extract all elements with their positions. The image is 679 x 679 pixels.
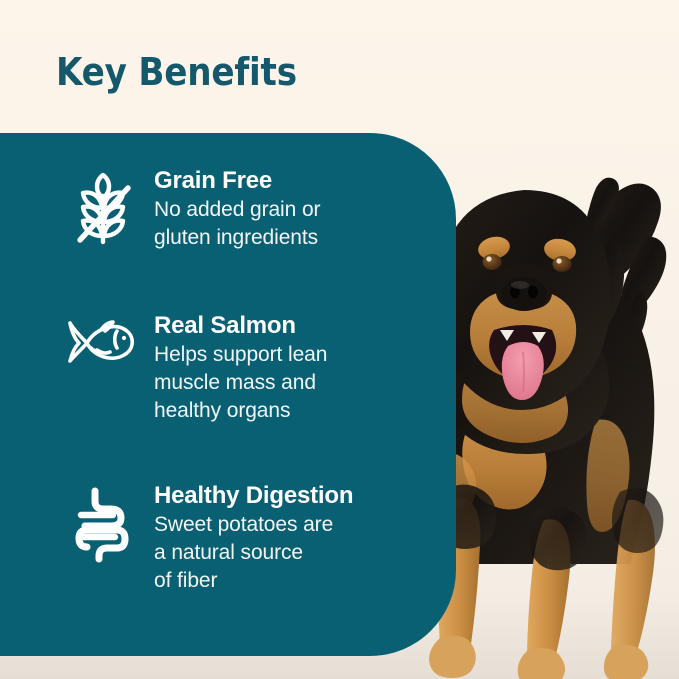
benefit-description-line: muscle mass and: [154, 369, 444, 397]
benefit-description-line: Helps support lean: [154, 341, 444, 369]
benefit-description: Helps support lean muscle mass and healt…: [154, 341, 444, 425]
benefit-description: Sweet potatoes are a natural source of f…: [154, 511, 444, 595]
key-benefits-graphic: Key Benefits Grain Free: [0, 0, 679, 679]
benefit-item-grain-free: Grain Free No added grain or gluten ingr…: [64, 168, 444, 252]
page-title: Key Benefits: [56, 50, 297, 94]
benefit-text: Grain Free No added grain or gluten ingr…: [154, 168, 444, 252]
benefit-description-line: No added grain or: [154, 196, 444, 224]
benefit-description-line: Sweet potatoes are: [154, 511, 444, 539]
benefit-description-line: healthy organs: [154, 397, 444, 425]
benefit-description-line: gluten ingredients: [154, 224, 444, 252]
fish-icon: [64, 313, 142, 365]
benefit-description-line: of fiber: [154, 567, 444, 595]
wheat-crossed-out-icon: [64, 168, 142, 246]
benefit-heading: Grain Free: [154, 168, 444, 195]
benefit-description-line: a natural source: [154, 539, 444, 567]
benefit-item-real-salmon: Real Salmon Helps support lean muscle ma…: [64, 313, 444, 425]
benefit-item-healthy-digestion: Healthy Digestion Sweet potatoes are a n…: [64, 483, 444, 595]
intestine-icon: [64, 483, 142, 563]
benefit-description: No added grain or gluten ingredients: [154, 196, 444, 252]
benefit-text: Healthy Digestion Sweet potatoes are a n…: [154, 483, 444, 595]
benefit-heading: Real Salmon: [154, 313, 444, 340]
benefit-text: Real Salmon Helps support lean muscle ma…: [154, 313, 444, 425]
benefit-heading: Healthy Digestion: [154, 483, 444, 510]
